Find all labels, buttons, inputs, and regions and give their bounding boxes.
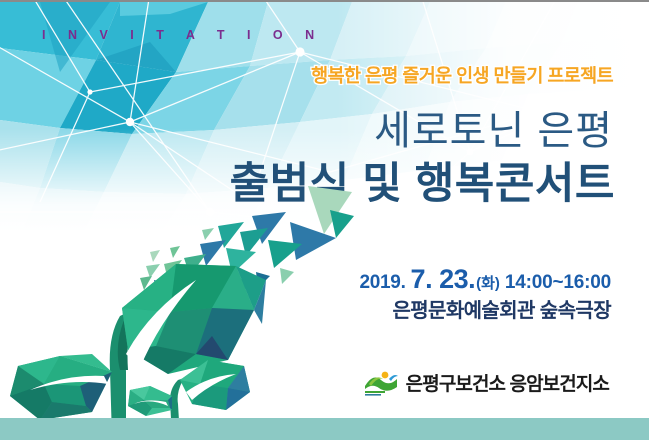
invitation-kicker: I N V I T A T I O N — [42, 28, 324, 42]
sprout-illustration — [0, 250, 340, 440]
ground-band — [0, 418, 649, 440]
date-dayofweek: (화) — [476, 272, 500, 293]
date-monthday: 7. 23. — [411, 264, 476, 295]
event-datetime: 2019. 7. 23. (화) 14:00~16:00 — [360, 264, 612, 295]
event-time: 14:00~16:00 — [505, 272, 611, 294]
eunpyeong-health-center-logo-icon — [363, 367, 399, 397]
date-year: 2019. — [360, 272, 406, 294]
poster-subtitle: 행복한 은평 즐거운 인생 만들기 프로젝트 — [311, 62, 613, 88]
invitation-poster: I N V I T A T I O N 행복한 은평 즐거운 인생 만들기 프로… — [0, 0, 649, 440]
poster-title-line1: 세로토닌 은평 — [374, 98, 613, 156]
organizer-row: 은평구보건소 응암보건지소 — [363, 367, 609, 397]
organizer-name: 은평구보건소 응암보건지소 — [406, 369, 609, 396]
event-venue: 은평문화예술회관 숲속극장 — [392, 294, 611, 323]
